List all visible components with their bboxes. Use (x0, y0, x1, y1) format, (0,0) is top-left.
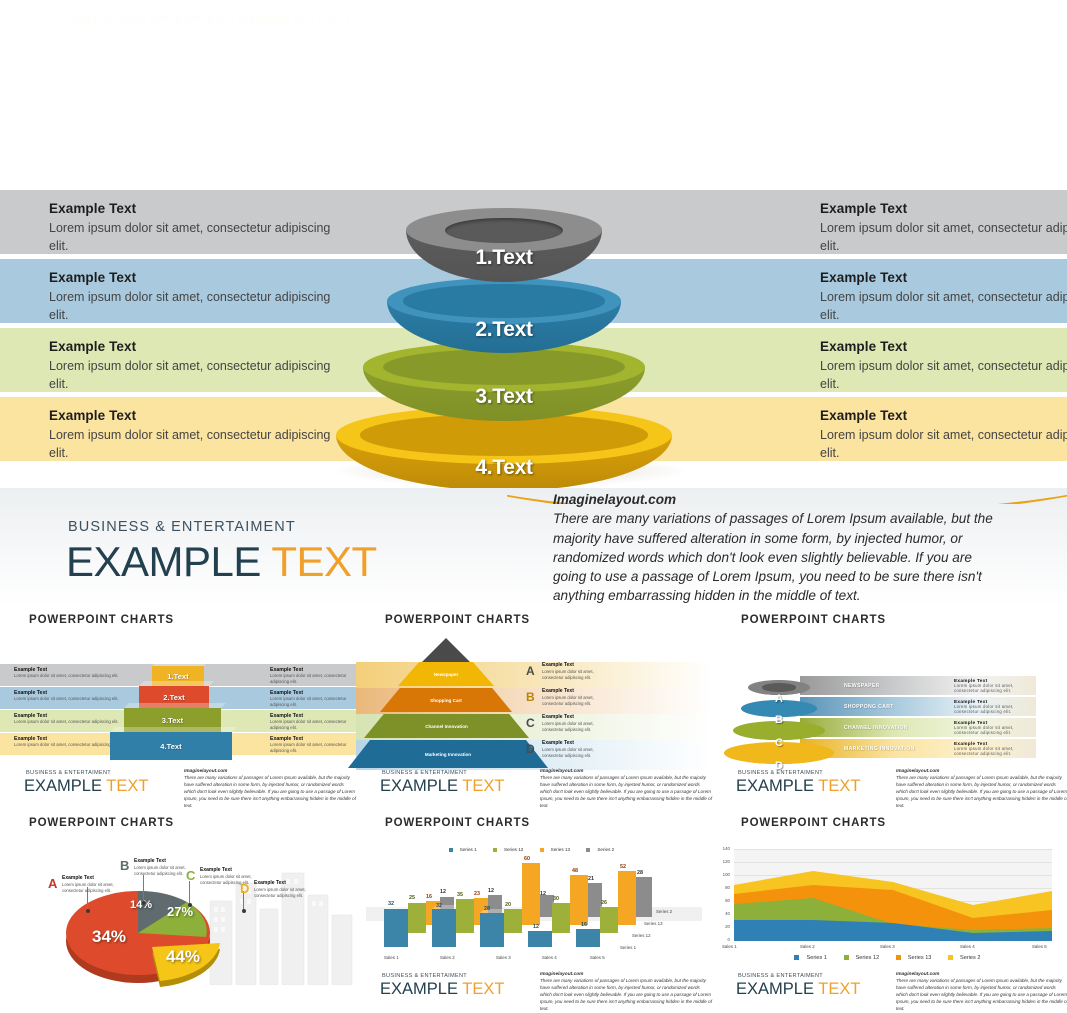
thumb3-title-accent: TEXT (818, 777, 860, 795)
bar3d-legend-label-4: Series 2 (597, 847, 614, 852)
bar3d-legend-item-1: Series 1 (449, 847, 482, 852)
thumb2-brand: Imaginelayout.com (540, 769, 583, 774)
cylinder-2-inner (403, 284, 604, 317)
bar3d-v-g2-s2: 12 (488, 888, 494, 894)
thumb1-kicker: BUSINESS & ENTERTAIMENT (26, 770, 111, 776)
thumbnail-grid: POWERPOINT CHARTS Example Text Lorem ips… (0, 606, 1067, 1003)
thumb5-title-dark: EXAMPLE (380, 980, 458, 998)
bar3d-g4-s1 (528, 931, 552, 947)
thumbnail-5-footer: BUSINESS & ENTERTAIMENT EXAMPLE TEXT Ima… (356, 971, 712, 1005)
area-ytick-0: 0 (716, 937, 730, 942)
brand-name: Imaginelayout.com (553, 492, 676, 507)
pie-c-title: Example Text (200, 867, 232, 873)
bar3d-v-g3-s12: 20 (505, 902, 511, 908)
pie-svg (56, 875, 256, 1005)
thumbnail-1-canvas: Example Text Lorem ipsum dolor sit amet,… (0, 636, 356, 782)
thumb3-bar-3: CHANNEL INNOVATION Example TextLorem ips… (800, 718, 1036, 737)
area-xtick-4: Sales 4 (960, 944, 975, 949)
pie-value-d: 44% (166, 947, 200, 967)
thumb2-title-dark: EXAMPLE (380, 777, 458, 795)
thumb5-paragraph: Imaginelayout.comThere are many variatio… (540, 971, 712, 1013)
thumbnail-3-title: POWERPOINT CHARTS (741, 614, 886, 626)
bar3d-v-g1-s1: 32 (388, 901, 394, 907)
bar3d-x-3: Sales 3 (496, 955, 511, 960)
thumbnail-1-footer: BUSINESS & ENTERTAIMENT EXAMPLE TEXT Ima… (0, 768, 356, 802)
thumb1-paragraph: Imaginelayout.comThere are many variatio… (184, 768, 356, 810)
thumb2-key-b: B (526, 690, 535, 704)
thumb3-bar2-label: SHOPPONG CART (844, 704, 894, 710)
bar3d-v-g2-s13: 23 (474, 891, 480, 897)
pie-value-a: 34% (92, 927, 126, 947)
bar3d-v-g1-s12: 25 (409, 895, 415, 901)
pie-c-body: Lorem ipsum dolor sit amet, consectetur … (200, 874, 260, 886)
bar3d-x-1: Sales 1 (384, 955, 399, 960)
thumb6-paragraph: Imaginelayout.comThere are many variatio… (896, 971, 1067, 1013)
cylinder-3-label: 3.Text (363, 385, 645, 409)
thumb2-title-accent: TEXT (462, 777, 504, 795)
pie-value-b: 14% (130, 899, 152, 911)
thumbnail-5-title: POWERPOINT CHARTS (385, 817, 530, 829)
area-ytick-100: 100 (716, 872, 730, 877)
bar3d-x-4: Sales 4 (542, 955, 557, 960)
thumb1-b2-left-body: Lorem ipsum dolor sit amet, consectetur … (14, 696, 119, 702)
thumb3-bar3-body: Lorem ipsum dolor sit amet, consectetur … (954, 725, 1032, 735)
thumb2-apex (422, 638, 470, 662)
thumb3-title-dark: EXAMPLE (736, 777, 814, 795)
pie-leader-b (143, 875, 144, 903)
thumb2-key-c: C (526, 716, 535, 730)
cylinder-2-label: 2.Text (387, 318, 621, 342)
bar3d-g2-s1 (432, 909, 456, 947)
area-ytick-60: 60 (716, 898, 730, 903)
bar3d-g4-s12 (552, 903, 570, 933)
thumbnail-6-canvas: 140 120 100 80 60 40 20 0 Sales 1 Sales … (712, 839, 1067, 985)
bar3d-legend-item-4: Series 2 (586, 847, 619, 852)
pie-d-body: Lorem ipsum dolor sit amet, consectetur … (254, 887, 314, 899)
bar3d-legend-label-2: Series 12 (504, 847, 523, 852)
area-xtick-5: Sales 5 (1032, 944, 1047, 949)
thumb3-bar3-callout: Example TextLorem ipsum dolor sit amet, … (954, 720, 1032, 735)
thumbnail-3-canvas: NEWSPAPER Example TextLorem ipsum dolor … (712, 636, 1067, 782)
thumb3-cyl1-label: A (748, 693, 810, 705)
thumb2-c-title: Example Text (542, 714, 574, 720)
thumb1-b2-right-body: Lorem ipsum dolor sit amet, consectetur … (270, 696, 356, 708)
thumb5-title-accent: TEXT (462, 980, 504, 998)
thumb2-a-body: Lorem ipsum dolor sit amet, consectetur … (542, 669, 612, 681)
thumb5-kicker: BUSINESS & ENTERTAIMENT (382, 973, 467, 979)
cylinder-1-hole (445, 218, 563, 244)
pie-key-d: D (240, 881, 249, 896)
thumb2-b-title: Example Text (542, 688, 574, 694)
bar3d-legend-label-1: Series 1 (460, 847, 477, 852)
thumb1-b3-right-body: Lorem ipsum dolor sit amet, consectetur … (270, 719, 356, 731)
thumb5-paragraph-body: There are many variations of passages of… (540, 978, 712, 1011)
thumb6-brand: Imaginelayout.com (896, 972, 939, 977)
intro-paragraph-body: There are many variations of passages of… (553, 511, 993, 603)
thumb1-b4-left-body: Lorem ipsum dolor sit amet, consectetur … (14, 742, 119, 748)
bar3d-v-g3-s1: 28 (484, 906, 490, 912)
cylinder-3-inner (383, 349, 626, 385)
thumb1-block-4: 4.Text (110, 732, 232, 760)
thumb3-bar4-callout: Example TextLorem ipsum dolor sit amet, … (954, 741, 1032, 756)
thumb3-bar-4: MARKETING INNOVATION Example TextLorem i… (800, 739, 1036, 758)
bar3d-depth-1: Series 2 (656, 909, 672, 914)
pie-key-c: C (186, 868, 195, 883)
bar3d-v-g5-s12: 26 (601, 900, 607, 906)
bar3d-v-g5-s2: 28 (637, 870, 643, 876)
thumbnail-5-canvas: Series 1 Series 12 Series 13 Series 2 32… (356, 839, 712, 985)
area-legend-item-1: Series 1 (794, 955, 832, 961)
thumb1-title-dark: EXAMPLE (24, 777, 102, 795)
bar3d-depth-3: Series 12 (632, 933, 651, 938)
bar3d-depth-4: Series 1 (620, 945, 636, 950)
bar3d-v-g4-s2: 21 (588, 876, 594, 882)
bar3d-v-g3-s2: 12 (540, 891, 546, 897)
thumb6-title: EXAMPLE TEXT (736, 980, 860, 999)
thumbnail-3-footer: BUSINESS & ENTERTAIMENT EXAMPLE TEXT Ima… (712, 768, 1067, 802)
thumb3-bar4-label: MARKETING INNOVATION (844, 746, 915, 752)
thumb2-key-a: A (526, 664, 535, 678)
bar3d-v-g4-s13: 48 (572, 868, 578, 874)
area-xtick-2: Sales 2 (800, 944, 815, 949)
thumbnail-4-title: POWERPOINT CHARTS (29, 817, 174, 829)
pie-d-title: Example Text (254, 880, 286, 886)
thumbnail-2-footer: BUSINESS & ENTERTAIMENT EXAMPLE TEXT Ima… (356, 768, 712, 802)
thumb3-bar3-label: CHANNEL INNOVATION (844, 725, 908, 731)
thumb2-level-4: Marketing Innovation (348, 740, 548, 768)
bar3d-g2-s12 (456, 899, 474, 933)
bar3d-g3-s1 (480, 913, 504, 947)
thumbnail-stacked-blocks[interactable]: POWERPOINT CHARTS Example Text Lorem ips… (0, 606, 356, 804)
thumb3-title: EXAMPLE TEXT (736, 777, 860, 796)
thumb3-bar2-callout: Example TextLorem ipsum dolor sit amet, … (954, 699, 1032, 714)
bar3d-g1-s12 (408, 903, 426, 933)
thumb3-kicker: BUSINESS & ENTERTAIMENT (738, 770, 823, 776)
area-legend-label-3: Series 13 (908, 955, 932, 961)
bar3d-v-g5-s13: 52 (620, 864, 626, 870)
thumb3-cyl2-label: B (741, 714, 817, 726)
bar3d-x-2: Sales 2 (440, 955, 455, 960)
top-watermark: imaginelayout.com powerpoint templates a… (72, 14, 672, 28)
area-legend-item-3: Series 13 (896, 955, 937, 961)
bar3d-legend-item-3: Series 13 (540, 847, 575, 852)
thumb3-bar1-body: Lorem ipsum dolor sit amet, consectetur … (954, 683, 1032, 693)
thumb2-level-3: Channel Innovation (364, 714, 529, 738)
thumb3-bar4-body: Lorem ipsum dolor sit amet, consectetur … (954, 746, 1032, 756)
area-ytick-140: 140 (716, 846, 730, 851)
thumb2-key-d: D (526, 742, 535, 756)
thumb6-paragraph-body: There are many variations of passages of… (896, 978, 1067, 1011)
thumb2-d-title: Example Text (542, 740, 574, 746)
pie-b-title: Example Text (134, 858, 166, 864)
pie-key-a: A (48, 876, 57, 891)
pie-b-body: Lorem ipsum dolor sit amet, consectetur … (134, 865, 194, 877)
bar3d-g5-s2 (636, 877, 652, 917)
bar3d-v-g1-s2: 12 (440, 889, 446, 895)
thumb3-cyl1-hole (762, 683, 797, 691)
bar3d-x-5: Sales 5 (590, 955, 605, 960)
area-legend-item-2: Series 12 (844, 955, 885, 961)
thumb1-b1-left-body: Lorem ipsum dolor sit amet, consectetur … (14, 673, 119, 679)
bar3d-g5-s12 (600, 907, 618, 933)
thumbnail-pie-chart[interactable]: POWERPOINT CHARTS (0, 809, 356, 1007)
bar3d-v-g4-s1: 12 (533, 924, 539, 930)
page-title-accent: TEXT (271, 538, 376, 585)
thumb3-brand: Imaginelayout.com (896, 769, 939, 774)
bar3d-v-g1-s13: 16 (426, 894, 432, 900)
page-kicker: BUSINESS & ENTERTAIMENT (68, 519, 296, 535)
pie-key-b: B (120, 858, 129, 873)
bar3d-g5-s1 (576, 929, 600, 947)
thumb3-bar2-body: Lorem ipsum dolor sit amet, consectetur … (954, 704, 1032, 714)
thumb1-b4-right-body: Lorem ipsum dolor sit amet, consectetur … (270, 742, 356, 754)
area-xtick-3: Sales 3 (880, 944, 895, 949)
pie-leader-c (189, 881, 190, 905)
thumb2-a-title: Example Text (542, 662, 574, 668)
area-legend-label-1: Series 1 (806, 955, 827, 961)
thumb1-brand: Imaginelayout.com (184, 769, 227, 774)
thumbnail-cylinder-bars[interactable]: POWERPOINT CHARTS NEWSPAPER Example Text… (712, 606, 1067, 804)
bar3d-v-g3-s13: 60 (524, 856, 530, 862)
bar3d-g4-s13 (570, 875, 588, 925)
thumb3-paragraph: Imaginelayout.comThere are many variatio… (896, 768, 1067, 810)
thumb6-kicker: BUSINESS & ENTERTAIMENT (738, 973, 823, 979)
cylinder-layer-1[interactable]: 1.Text (406, 208, 602, 252)
thumbnail-4-canvas: 34% 14% 27% 44% A Example Text Lorem ips… (0, 839, 356, 985)
thumbnail-triangle-pyramid[interactable]: POWERPOINT CHARTS Newspaper Shopping Car… (356, 606, 712, 804)
thumb1-title: EXAMPLE TEXT (24, 777, 148, 796)
thumb2-kicker: BUSINESS & ENTERTAIMENT (382, 770, 467, 776)
thumbnail-6-footer: BUSINESS & ENTERTAIMENT EXAMPLE TEXT Ima… (712, 971, 1067, 1005)
thumb6-title-accent: TEXT (818, 980, 860, 998)
page-title-dark: EXAMPLE (66, 538, 261, 585)
thumbnail-2-canvas: Newspaper Shopping Cart Channel Innovati… (356, 636, 712, 782)
page-title: EXAMPLE TEXT (66, 538, 377, 586)
thumbnail-1-title: POWERPOINT CHARTS (29, 614, 174, 626)
thumb3-bar1-label: NEWSPAPER (844, 683, 880, 689)
bar3d-v-g4-s12: 30 (553, 896, 559, 902)
thumbnail-2-title: POWERPOINT CHARTS (385, 614, 530, 626)
bar3d-v-g2-s1: 32 (436, 903, 442, 909)
thumbnail-area-chart[interactable]: POWERPOINT CHARTS 140 120 100 80 60 40 (712, 809, 1067, 1007)
thumb3-paragraph-body: There are many variations of passages of… (896, 775, 1067, 808)
thumb3-bar-1: NEWSPAPER Example TextLorem ipsum dolor … (800, 676, 1036, 695)
thumb3-bar1-callout: Example TextLorem ipsum dolor sit amet, … (954, 678, 1032, 693)
area-ytick-120: 120 (716, 859, 730, 864)
area-legend-item-4: Series 2 (948, 955, 986, 961)
thumb6-title-dark: EXAMPLE (736, 980, 814, 998)
area-legend: Series 1 Series 12 Series 13 Series 2 (712, 955, 1067, 961)
area-legend-label-2: Series 12 (856, 955, 880, 961)
cylinder-1-label: 1.Text (406, 246, 602, 270)
area-legend-label-4: Series 2 (960, 955, 981, 961)
bar3d-g5-s13 (618, 871, 636, 925)
thumb1-b3-left-body: Lorem ipsum dolor sit amet, consectetur … (14, 719, 119, 725)
area-ytick-20: 20 (716, 924, 730, 929)
area-xtick-1: Sales 1 (722, 944, 737, 949)
thumb2-title: EXAMPLE TEXT (380, 777, 504, 796)
thumb2-paragraph: Imaginelayout.comThere are many variatio… (540, 768, 712, 810)
thumb2-paragraph-body: There are many variations of passages of… (540, 775, 712, 808)
thumb1-title-accent: TEXT (106, 777, 148, 795)
thumb2-c-body: Lorem ipsum dolor sit amet, consectetur … (542, 721, 612, 733)
bar3d-g1-s1 (384, 909, 408, 947)
thumb1-b1-right-body: Lorem ipsum dolor sit amet, consectetur … (270, 673, 356, 685)
bar3d-v-g5-s1: 16 (581, 922, 587, 928)
area-ytick-80: 80 (716, 885, 730, 890)
cylinder-stack-chart: 4.Text 3.Text 2.Text 1.Text (0, 190, 1067, 496)
area-ytick-40: 40 (716, 911, 730, 916)
thumb3-bar-2: SHOPPONG CART Example TextLorem ipsum do… (800, 697, 1036, 716)
bar3d-v-g2-s12: 35 (457, 892, 463, 898)
bar3d-legend: Series 1 Series 12 Series 13 Series 2 (356, 847, 712, 852)
bar3d-legend-label-3: Series 13 (551, 847, 570, 852)
thumb5-title: EXAMPLE TEXT (380, 980, 504, 999)
area-svg (734, 849, 1052, 941)
thumb3-cyl-1: A (748, 680, 810, 695)
thumb2-b-body: Lorem ipsum dolor sit amet, consectetur … (542, 695, 612, 707)
thumb2-level-2: Shopping Cart (380, 688, 512, 712)
thumbnail-bar3d-chart[interactable]: POWERPOINT CHARTS Series 1 Series 12 Ser… (356, 809, 712, 1007)
intro-paragraph: Imaginelayout.com There are many variati… (553, 490, 1008, 606)
thumb3-cyl3-label: C (733, 737, 825, 749)
bar3d-depth-2: Series 13 (644, 921, 663, 926)
thumb5-brand: Imaginelayout.com (540, 972, 583, 977)
bar3d-legend-item-2: Series 12 (493, 847, 528, 852)
pie-a-title: Example Text (62, 875, 94, 881)
bar3d-g3-s13 (522, 863, 540, 925)
pie-a-body: Lorem ipsum dolor sit amet, consectetur … (62, 882, 122, 894)
thumb2-d-body: Lorem ipsum dolor sit amet, consectetur … (542, 747, 612, 759)
bar3d-g3-s12 (504, 909, 522, 933)
thumb1-paragraph-body: There are many variations of passages of… (184, 775, 356, 808)
cylinder-layer-2[interactable]: 2.Text (387, 278, 621, 324)
thumbnail-6-title: POWERPOINT CHARTS (741, 817, 886, 829)
main-slide: Example Text Lorem ipsum dolor sit amet,… (0, 190, 1067, 496)
